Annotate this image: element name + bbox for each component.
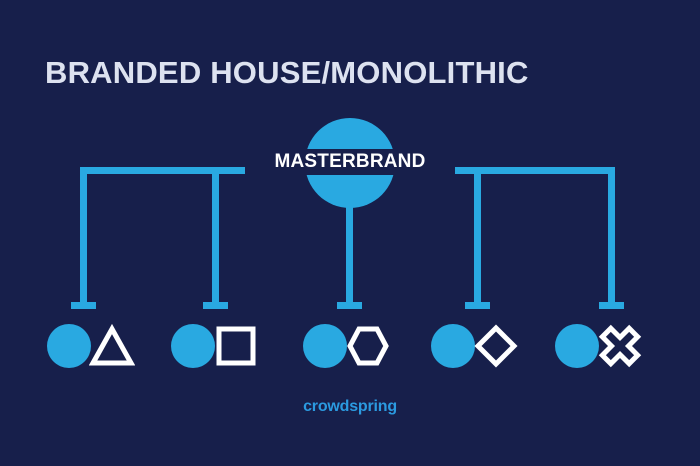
branded-house-infographic: BRANDED HOUSE/MONOLITHIC MASTERBRAND (0, 0, 700, 466)
brand-circle-icon-5 (555, 324, 599, 368)
connector-drop-2 (212, 167, 219, 309)
diamond-icon (473, 323, 519, 369)
hexagon-icon (345, 323, 391, 369)
brand-circle-icon-4 (431, 324, 475, 368)
brand-circle-icon-1 (47, 324, 91, 368)
connector-horizontal-left (80, 167, 270, 174)
triangle-icon (89, 323, 135, 369)
crowdspring-wordmark: crowdspring (0, 398, 700, 416)
brand-node-1[interactable] (47, 320, 135, 372)
brand-node-5[interactable] (555, 320, 643, 372)
brand-node-3[interactable] (303, 320, 391, 372)
connector-drop-3 (346, 203, 353, 309)
connector-foot-1 (71, 302, 96, 309)
connector-drop-5 (608, 167, 615, 309)
brand-circle-icon-3 (303, 324, 347, 368)
masterbrand-node[interactable]: MASTERBRAND (305, 118, 395, 208)
page-title: BRANDED HOUSE/MONOLITHIC (45, 56, 529, 90)
brand-node-4[interactable] (431, 320, 519, 372)
brand-circle-icon-2 (171, 324, 215, 368)
cross-x-icon (597, 323, 643, 369)
masterbrand-label: MASTERBRAND (245, 148, 455, 176)
connector-drop-4 (474, 167, 481, 309)
connector-foot-3 (337, 302, 362, 309)
connector-horizontal-right (428, 167, 615, 174)
square-icon (213, 323, 259, 369)
connector-foot-5 (599, 302, 624, 309)
brand-node-2[interactable] (171, 320, 259, 372)
connector-foot-4 (465, 302, 490, 309)
connector-foot-2 (203, 302, 228, 309)
connector-drop-1 (80, 167, 87, 309)
